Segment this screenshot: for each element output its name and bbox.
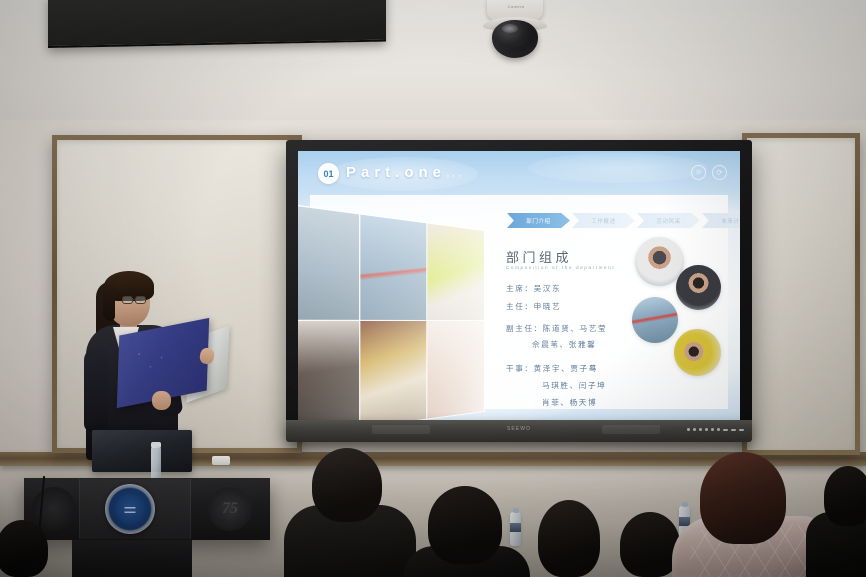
display-button-1[interactable] bbox=[687, 428, 690, 431]
presenter-hair-side bbox=[103, 285, 115, 321]
roster-line-5: 马琪胜、闫子坤 bbox=[542, 380, 606, 391]
roster-line-2: 副主任：陈道贤、马艺莹 bbox=[506, 323, 607, 334]
presenter-glasses-left-lens bbox=[122, 296, 133, 304]
presenter-arm-left bbox=[84, 348, 108, 432]
camera-brand-label: Camera bbox=[500, 4, 532, 9]
slide-cloud-2 bbox=[528, 153, 708, 183]
slide-logo-a-icon: ⚛ bbox=[691, 165, 706, 180]
display-button-8[interactable] bbox=[731, 429, 736, 431]
display-speaker-right bbox=[602, 425, 660, 434]
slide-logo-group: ⚛ ⟳ bbox=[691, 165, 727, 180]
podium-monitor[interactable] bbox=[92, 430, 192, 472]
university-seal-center: ⚌ bbox=[115, 494, 145, 524]
roster-line-4: 干事：黄泽宇、贾子蓦 bbox=[506, 363, 598, 374]
portrait-photo-3 bbox=[632, 297, 678, 343]
slide-tab-0[interactable]: 部门介绍 bbox=[507, 213, 570, 228]
slide-part-title: Part.one bbox=[346, 164, 446, 181]
slide-part-badge: 01 bbox=[318, 163, 339, 184]
display-bottom-bezel: SEEWO bbox=[286, 420, 752, 442]
water-bottle-1 bbox=[510, 512, 521, 546]
audience-member-3-head bbox=[538, 500, 600, 577]
display-button-7[interactable] bbox=[723, 429, 728, 431]
display-brand-label: SEEWO bbox=[286, 426, 752, 432]
audience-member-4-head bbox=[620, 512, 680, 577]
slide-tab-1[interactable]: 工作概述 bbox=[572, 213, 635, 228]
display-screen[interactable]: 01 Part.one ··· ⚛ ⟳ 部门介绍 工作概述 活动风采 未来计划 bbox=[298, 151, 740, 423]
slide-heading-cn: 部门组成 bbox=[506, 247, 572, 266]
collage-light-wash bbox=[298, 204, 484, 423]
interactive-display[interactable]: 01 Part.one ··· ⚛ ⟳ 部门介绍 工作概述 活动风采 未来计划 bbox=[286, 140, 752, 440]
camera-glare bbox=[502, 24, 518, 33]
acoustic-panel bbox=[48, 0, 386, 48]
presentation-slide: 01 Part.one ··· ⚛ ⟳ 部门介绍 工作概述 活动风采 未来计划 bbox=[298, 151, 740, 423]
audience-member-1-head bbox=[312, 448, 382, 522]
slide-content-card: 部门介绍 工作概述 活动风采 未来计划 bbox=[310, 195, 728, 409]
presenter-hand-left bbox=[152, 391, 171, 410]
slide-tab-3[interactable]: 未来计划 bbox=[702, 213, 740, 228]
audience-member-2-head bbox=[428, 486, 502, 564]
whiteboard-right-surface bbox=[747, 138, 855, 450]
podium-base bbox=[72, 540, 192, 577]
roster-line-1: 主任：申晓艺 bbox=[506, 301, 561, 312]
seal-glyph-icon: ⚌ bbox=[123, 502, 136, 517]
display-button-6[interactable] bbox=[717, 428, 720, 431]
display-button-3[interactable] bbox=[699, 428, 702, 431]
display-button-row[interactable] bbox=[687, 428, 744, 431]
slide-tab-2[interactable]: 活动风采 bbox=[637, 213, 700, 228]
audience-member-6-head bbox=[824, 466, 866, 526]
presenter-glasses-bridge bbox=[133, 299, 136, 300]
anniversary-75-logo: 75 bbox=[208, 487, 252, 531]
whiteboard-right bbox=[742, 133, 860, 455]
audience-member-0-head bbox=[0, 520, 48, 577]
slide-logo-b-icon: ⟳ bbox=[712, 165, 727, 180]
audience-member-5-head bbox=[700, 452, 786, 544]
slide-nav-tabs: 部门介绍 工作概述 活动风采 未来计划 bbox=[507, 213, 740, 228]
slide-title-dots: ··· bbox=[446, 170, 463, 182]
bottle-label-1 bbox=[510, 523, 521, 532]
podium-water-bottle bbox=[151, 446, 161, 480]
display-button-5[interactable] bbox=[711, 428, 714, 431]
portrait-photo-4 bbox=[674, 329, 721, 376]
slide-heading-en: Composition of the department bbox=[506, 265, 615, 270]
lecture-hall-scene: Camera 01 Part.one ··· ⚛ ⟳ bbox=[0, 0, 866, 577]
roster-line-6: 肖菲、杨天博 bbox=[542, 397, 597, 408]
presenter-glasses-right-lens bbox=[135, 296, 146, 304]
podium-white-object bbox=[212, 456, 230, 465]
display-button-2[interactable] bbox=[693, 428, 696, 431]
portrait-photo-2 bbox=[676, 265, 721, 310]
roster-line-0: 主席：吴汉东 bbox=[506, 283, 561, 294]
display-button-4[interactable] bbox=[705, 428, 708, 431]
display-button-9[interactable] bbox=[739, 429, 744, 431]
slide-photo-collage bbox=[298, 204, 484, 423]
roster-line-3: 佘晨苇、张雅馨 bbox=[532, 339, 596, 350]
